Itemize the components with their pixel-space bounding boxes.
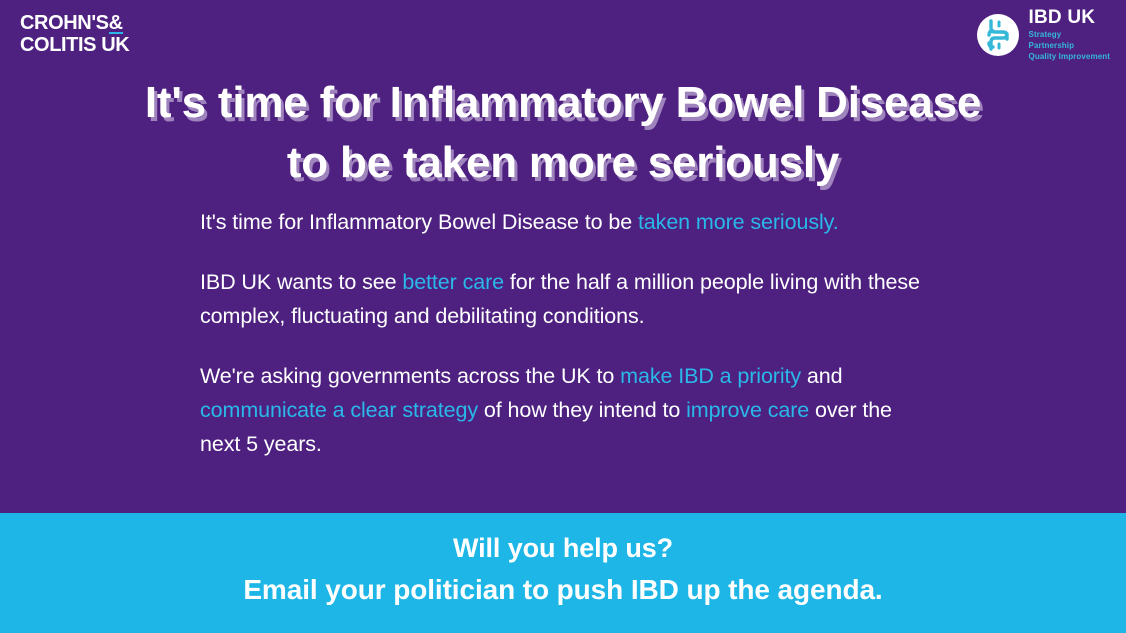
p1-text-part1: It's time for Inflammatory Bowel Disease…	[200, 210, 638, 234]
paragraph-2: IBD UK wants to see better care for the …	[200, 266, 930, 334]
call-to-action-banner: Will you help us? Email your politician …	[0, 513, 1126, 633]
p3-highlight-improve-care: improve care	[686, 398, 809, 422]
campaign-poster: CROHN'S& COLITIS UK IBD UK Strateg	[0, 0, 1126, 633]
paragraph-1: It's time for Inflammatory Bowel Disease…	[200, 206, 930, 240]
p1-highlight-taken-more-seriously: taken more seriously.	[638, 210, 839, 234]
ibd-uk-tagline-partnership: Partnership	[1029, 41, 1110, 52]
p3-highlight-communicate-a-clear-strategy: communicate a clear strategy	[200, 398, 478, 422]
p3-text-part2: and	[801, 364, 842, 388]
crohns-colitis-uk-logo: CROHN'S& COLITIS UK	[20, 13, 220, 55]
ibd-uk-tagline-strategy: Strategy	[1029, 30, 1110, 41]
intestine-circle-icon	[975, 12, 1021, 58]
ibd-uk-logo: IBD UK Strategy Partnership Quality Impr…	[975, 8, 1110, 62]
p3-highlight-make-ibd-a-priority: make IBD a priority	[620, 364, 801, 388]
page-title: It's time for Inflammatory Bowel Disease…	[0, 73, 1126, 193]
paragraph-3: We're asking governments across the UK t…	[200, 360, 930, 462]
crohns-colitis-logo-line1: CROHN'S&	[20, 13, 220, 33]
ibd-uk-logo-text: IBD UK Strategy Partnership Quality Impr…	[1029, 8, 1110, 62]
crohns-colitis-logo-word: CROHN'S	[20, 12, 109, 34]
ibd-uk-tagline-quality-improvement: Quality Improvement	[1029, 52, 1110, 63]
ampersand-underlined: &	[109, 13, 123, 33]
banner-question: Will you help us?	[453, 531, 673, 566]
p2-highlight-better-care: better care	[402, 270, 504, 294]
body-copy: It's time for Inflammatory Bowel Disease…	[200, 206, 930, 462]
crohns-colitis-logo-line2: COLITIS UK	[20, 35, 220, 55]
p3-text-part3: of how they intend to	[478, 398, 686, 422]
banner-call-to-action: Email your politician to push IBD up the…	[243, 572, 882, 608]
p2-text-part1: IBD UK wants to see	[200, 270, 402, 294]
ibd-uk-logo-title: IBD UK	[1029, 8, 1110, 27]
p3-text-part1: We're asking governments across the UK t…	[200, 364, 620, 388]
